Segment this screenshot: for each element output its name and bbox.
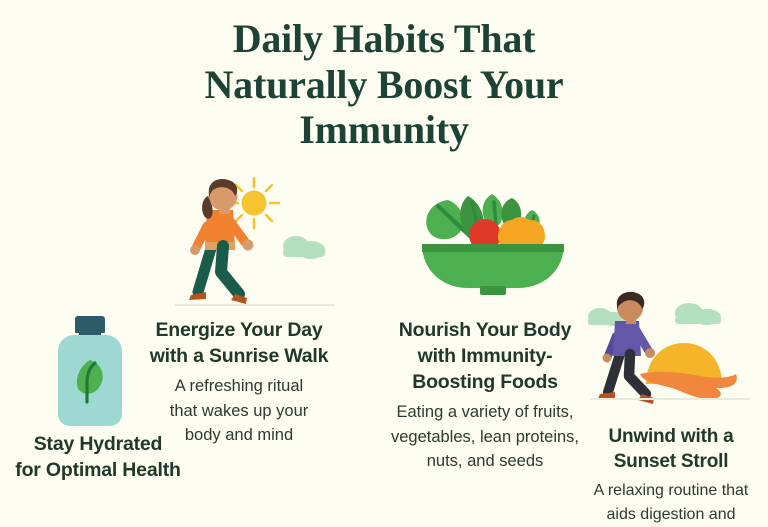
body-line: that wakes up your: [170, 402, 309, 420]
body-line: vegetables, lean proteins,: [391, 428, 579, 446]
sun-reflection-icon: [640, 372, 737, 399]
heading-line: Nourish Your Body: [399, 319, 571, 341]
section-sunrise-walk-heading: Energize Your Day with a Sunrise Walk: [126, 318, 352, 370]
heading-line: Sunset Stroll: [614, 451, 729, 472]
section-sunset-stroll-body: A relaxing routine that aids digestion a…: [574, 479, 768, 527]
ground-line: [175, 304, 335, 306]
body-line: A refreshing ritual: [175, 377, 303, 395]
body-line: Eating a variety of fruits,: [397, 403, 574, 421]
cloud-icon: [283, 236, 325, 259]
heading-line: with Immunity-: [418, 345, 553, 367]
section-sunrise-walk-text: Energize Your Day with a Sunrise Walk A …: [126, 318, 352, 448]
title-line-1: Daily Habits That: [0, 16, 768, 62]
body-line: aids digestion and: [607, 506, 736, 523]
page-title: Daily Habits That Naturally Boost Your I…: [0, 16, 768, 153]
water-bottle-icon: [58, 316, 122, 426]
cloud-icon: [675, 303, 721, 325]
walking-person-sunset-icon: [584, 288, 768, 406]
section-sunset-stroll-heading: Unwind with a Sunset Stroll: [574, 424, 768, 475]
section-nourish-body: Eating a variety of fruits, vegetables, …: [370, 400, 600, 474]
walking-person-sunrise-icon: [165, 172, 345, 312]
bowl-base-icon: [480, 286, 506, 295]
body-line: body and mind: [185, 426, 293, 444]
ground-line: [590, 398, 750, 400]
body-line: A relaxing routine that: [594, 482, 749, 499]
heading-line: Energize Your Day: [155, 319, 322, 341]
heading-line: with a Sunrise Walk: [150, 345, 329, 367]
section-nourish-heading: Nourish Your Body with Immunity- Boostin…: [370, 318, 600, 396]
title-line-3: Immunity: [0, 107, 768, 153]
heading-line: for Optimal Health: [15, 459, 180, 481]
salad-bowl-icon: [408, 188, 578, 298]
section-sunset-stroll-text: Unwind with a Sunset Stroll A relaxing r…: [574, 424, 768, 527]
leaf-icon: [70, 356, 110, 408]
title-line-2: Naturally Boost Your: [0, 62, 768, 108]
heading-line: Boosting Foods: [412, 371, 558, 393]
section-nourish-text: Nourish Your Body with Immunity- Boostin…: [370, 318, 600, 474]
body-line: nuts, and seeds: [427, 452, 544, 470]
heading-line: Unwind with a: [608, 426, 733, 447]
section-sunrise-walk-body: A refreshing ritual that wakes up your b…: [126, 374, 352, 448]
